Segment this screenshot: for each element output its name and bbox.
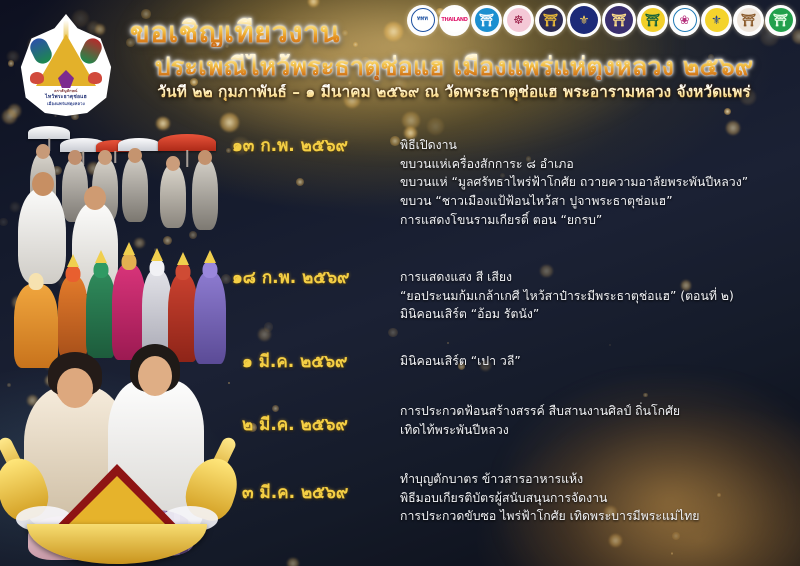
khon-dancer-hanuman bbox=[14, 284, 58, 368]
schedule-line: มินิคอนเสิร์ต “อ้อม รัตนัง” bbox=[400, 305, 794, 324]
schedule-line: เทิดไท้พระพันปีหลวง bbox=[400, 421, 794, 440]
poster-title-main: ประเพณีไหว้พระธาตุช่อแฮ เมืองแพร่แห่ตุงห… bbox=[116, 54, 792, 80]
poster-title-block: ขอเชิญเที่ยวงาน ประเพณีไหว้พระธาตุช่อแฮ … bbox=[116, 18, 792, 101]
khon-dancer-1 bbox=[58, 276, 88, 358]
schedule-date-1: ๑๓ ก.พ. ๒๕๖๙ bbox=[232, 136, 400, 157]
phra-that-cho-hae-emblem-logo: ตราสัญลักษณ์ ไหว้พระธาตุช่อแฮ เมืองแพร่แ… bbox=[18, 14, 114, 116]
schedule-date-2: ๑๘ ก.พ. ๒๕๖๙ bbox=[232, 268, 400, 289]
thai-pediment-ornament bbox=[0, 422, 242, 566]
performer-back-4 bbox=[122, 156, 148, 222]
portrait-singer-left-face bbox=[57, 368, 93, 408]
naga-left-icon bbox=[30, 72, 44, 84]
schedule-date-4: ๒ มี.ค. ๒๕๖๙ bbox=[232, 402, 400, 436]
performer-back-2-head bbox=[68, 150, 82, 165]
schedule-line: การประกวดฟ้อนสร้างสรรค์ สืบสานงานศิลป์ ถ… bbox=[400, 402, 794, 421]
khon-dancer-3 bbox=[112, 264, 146, 360]
portrait-presenter-right-face bbox=[138, 356, 172, 396]
schedule-row-5: ๓ มี.ค. ๒๕๖๙ ทำบุญตักบาตร ข้าวสารอาหารแห… bbox=[232, 470, 794, 526]
logo-caption-main: ไหว้พระธาตุช่อแฮ bbox=[45, 94, 87, 100]
schedule-line: ขบวนแห่เครื่องสักการะ ๘ อำเภอ bbox=[400, 155, 794, 174]
logo-caption-sub: เมืองแพร่แห่ตุงหลวง bbox=[18, 101, 114, 107]
schedule-date-3: ๑ มี.ค. ๒๕๖๙ bbox=[232, 352, 400, 373]
performer-back-4-head bbox=[128, 148, 142, 163]
schedule-line: พิธีมอบเกียรติบัตรผู้สนับสนุนการจัดงาน bbox=[400, 489, 794, 508]
schedule-desc-4: การประกวดฟ้อนสร้างสรรค์ สืบสานงานศิลป์ ถ… bbox=[400, 402, 794, 439]
performer-back-1-head bbox=[36, 144, 50, 159]
schedule-row-4: ๒ มี.ค. ๒๕๖๙ การประกวดฟ้อนสร้างสรรค์ สืบ… bbox=[232, 402, 794, 439]
performer-back-3-head bbox=[98, 150, 112, 165]
event-schedule: ๑๓ ก.พ. ๒๕๖๙ พิธีเปิดงาน ขบวนแห่เครื่องส… bbox=[232, 130, 794, 562]
schedule-line: การแสดงแสง สี เสียง bbox=[400, 268, 794, 287]
performer-front-man-head bbox=[32, 172, 54, 196]
festival-poster: ตราสัญลักษณ์ ไหว้พระธาตุช่อแฮ เมืองแพร่แ… bbox=[0, 0, 800, 566]
schedule-line: มินิคอนเสิร์ต “เปา วลี” bbox=[400, 352, 794, 371]
naga-right-icon bbox=[88, 72, 102, 84]
ornament-golden-base bbox=[27, 524, 207, 564]
performer-back-6 bbox=[192, 158, 218, 230]
schedule-line: ขบวน “ชาวเมืองแป้ฟ้อนไหว้สา ปูจาพระธาตุช… bbox=[400, 192, 794, 211]
performer-back-5-head bbox=[166, 156, 180, 171]
schedule-desc-2: การแสดงแสง สี เสียง “ยอประนมก้มเกล้าเกศี… bbox=[400, 268, 794, 324]
poster-header: ตราสัญลักษณ์ ไหว้พระธาตุช่อแฮ เมืองแพร่แ… bbox=[0, 0, 800, 130]
performer-back-6-head bbox=[198, 150, 212, 165]
schedule-line: พิธีเปิดงาน bbox=[400, 136, 794, 155]
schedule-row-3: ๑ มี.ค. ๒๕๖๙ มินิคอนเสิร์ต “เปา วลี” bbox=[232, 352, 794, 373]
poster-title-dates-venue: วันที่ ๒๒ กุมภาพันธ์ – ๑ มีนาคม ๒๕๖๙ ณ ว… bbox=[116, 84, 792, 101]
performer-front-man-white bbox=[18, 188, 66, 284]
schedule-line: การประกวดขับซอ ไพร่ฟ้าโกศัย เทิดพระบารมี… bbox=[400, 507, 794, 526]
schedule-desc-1: พิธีเปิดงาน ขบวนแห่เครื่องสักการะ ๘ อำเภ… bbox=[400, 136, 794, 229]
schedule-line: “ยอประนมก้มเกล้าเกศี ไหว้สาป๋าระมีพระธาต… bbox=[400, 287, 794, 306]
schedule-desc-3: มินิคอนเสิร์ต “เปา วลี” bbox=[400, 352, 794, 371]
schedule-line: ขบวนแห่ “มูลศรัทธาไพร่ฟ้าโกศัย ถวายความอ… bbox=[400, 173, 794, 192]
schedule-line: การแสดงโขนรามเกียรติ์ ตอน “ยกรบ” bbox=[400, 211, 794, 230]
logo-caption: ตราสัญลักษณ์ ไหว้พระธาตุช่อแฮ เมืองแพร่แ… bbox=[18, 89, 114, 107]
schedule-date-5: ๓ มี.ค. ๒๕๖๙ bbox=[232, 470, 400, 504]
schedule-row-1: ๑๓ ก.พ. ๒๕๖๙ พิธีเปิดงาน ขบวนแห่เครื่องส… bbox=[232, 136, 794, 229]
schedule-desc-5: ทำบุญตักบาตร ข้าวสารอาหารแห้ง พิธีมอบเกี… bbox=[400, 470, 794, 526]
performer-back-5 bbox=[160, 164, 186, 228]
schedule-line: ทำบุญตักบาตร ข้าวสารอาหารแห้ง bbox=[400, 470, 794, 489]
poster-title-invitation: ขอเชิญเที่ยวงาน bbox=[116, 18, 792, 47]
performers-photo-collage bbox=[0, 124, 232, 566]
khon-dancer-6 bbox=[194, 272, 226, 364]
schedule-row-2: ๑๘ ก.พ. ๒๕๖๙ การแสดงแสง สี เสียง “ยอประน… bbox=[232, 268, 794, 324]
performer-front-woman-head bbox=[84, 186, 106, 210]
